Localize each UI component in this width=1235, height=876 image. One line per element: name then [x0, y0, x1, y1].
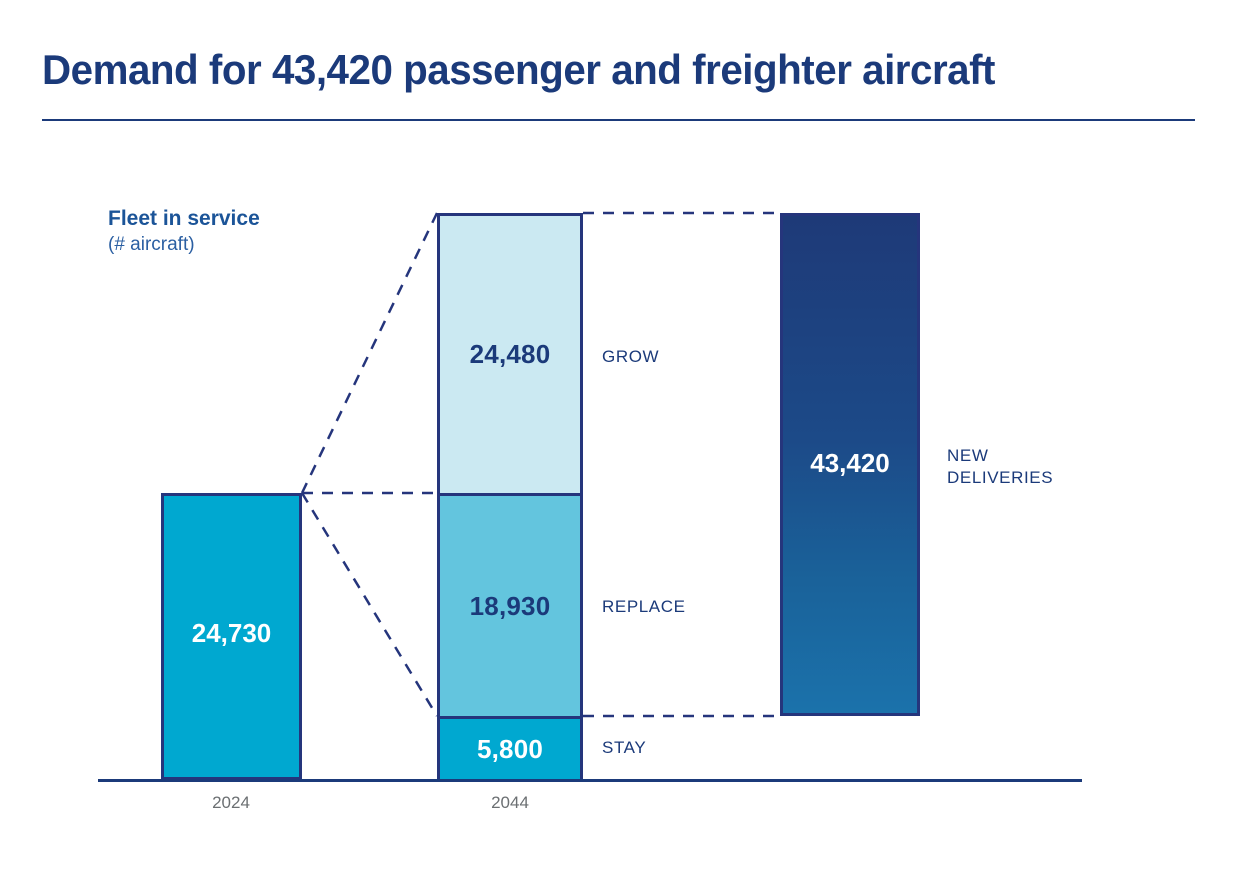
bar-value-new-deliveries: 43,420 — [783, 448, 917, 479]
bar-fleet-2024[interactable]: 24,730 — [161, 493, 302, 780]
segment-stay[interactable]: 5,800 — [440, 719, 580, 780]
segment-value-replace: 18,930 — [470, 591, 551, 622]
connector-2024-to-stay-top — [302, 493, 437, 716]
chart-page: Demand for 43,420 passenger and freighte… — [0, 0, 1235, 876]
connector-2024-to-grow-top — [302, 213, 437, 493]
label-replace: REPLACE — [602, 596, 686, 618]
segment-value-grow: 24,480 — [470, 339, 551, 370]
segment-grow[interactable]: 24,480 — [440, 216, 580, 496]
bar-fleet-2044[interactable]: 24,480 18,930 5,800 — [437, 213, 583, 780]
segment-value-stay: 5,800 — [477, 734, 543, 765]
axis-tick-2024: 2024 — [151, 793, 311, 813]
bar-value-fleet-2024: 24,730 — [164, 618, 299, 649]
axis-tick-2044: 2044 — [430, 793, 590, 813]
segment-replace[interactable]: 18,930 — [440, 496, 580, 719]
bar-new-deliveries[interactable]: 43,420 — [780, 213, 920, 716]
label-new-deliveries: NEW DELIVERIES — [947, 445, 1053, 489]
label-stay: STAY — [602, 737, 646, 759]
label-grow: GROW — [602, 346, 659, 368]
axis-baseline — [98, 779, 1082, 782]
plot-area: 24,730 24,480 18,930 5,800 43,420 GROW R… — [0, 0, 1235, 876]
